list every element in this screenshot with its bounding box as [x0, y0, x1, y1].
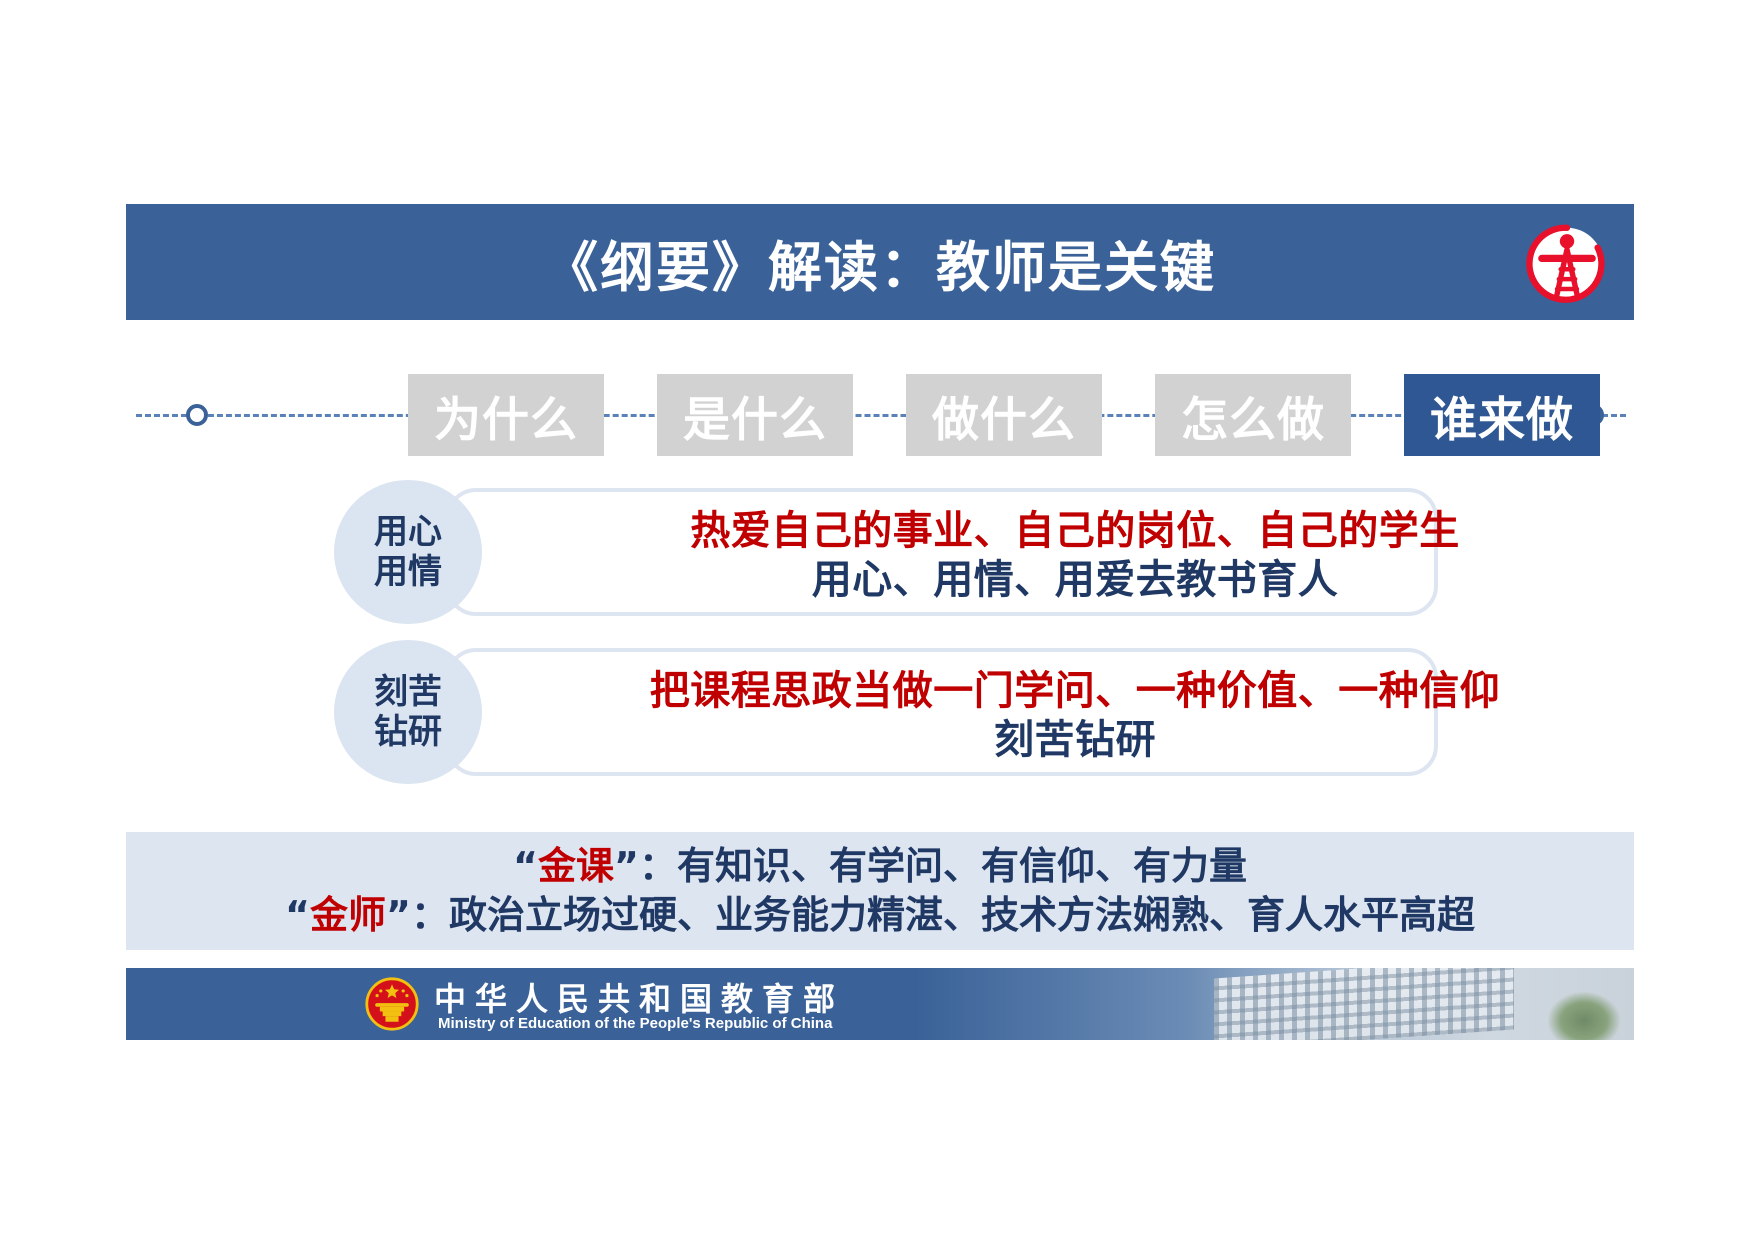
summary-line2-highlight: 金师 — [310, 893, 386, 937]
summary-line1-post: ”：有知识、有学问、有信仰、有力量 — [614, 844, 1247, 888]
summary-band: “金课”：有知识、有学问、有信仰、有力量 “金师”：政治立场过硬、业务能力精湛、… — [126, 832, 1634, 950]
timeline-start-dot-icon — [186, 404, 208, 426]
content-row-kekuzuanyan: 把课程思政当做一门学问、一种价值、一种信仰 刻苦钻研 刻苦 钻研 — [334, 648, 1438, 776]
row-badge-line2: 钻研 — [374, 712, 442, 752]
tab-zuoshenme[interactable]: 做什么 — [906, 374, 1102, 456]
section-timeline-nav: 为什么 是什么 做什么 怎么做 谁来做 — [126, 370, 1634, 460]
ministry-building-photo-icon — [914, 968, 1634, 1040]
slide-canvas: 《纲要》解读：教师是关键 为什么 是什么 做什么 怎么做 谁来做 — [0, 0, 1755, 1241]
content-card: 把课程思政当做一门学问、一种价值、一种信仰 刻苦钻研 — [446, 648, 1438, 776]
content-text-secondary: 刻苦钻研 — [994, 716, 1156, 765]
slide-footer: 中华人民共和国教育部 Ministry of Education of the … — [126, 968, 1634, 1040]
tab-shishenme[interactable]: 是什么 — [657, 374, 853, 456]
tab-weishenme[interactable]: 为什么 — [408, 374, 604, 456]
summary-line-jinshi: “金师”：政治立场过硬、业务能力精湛、技术方法娴熟、育人水平高超 — [285, 891, 1475, 940]
slide-header: 《纲要》解读：教师是关键 — [126, 204, 1634, 320]
content-text-block: 把课程思政当做一门学问、一种价值、一种信仰 刻苦钻研 — [600, 652, 1550, 780]
ministry-name-en: Ministry of Education of the People's Re… — [438, 1015, 832, 1032]
tab-sheilaizuo[interactable]: 谁来做 — [1404, 374, 1600, 456]
content-row-yongxinyongqing: 热爱自己的事业、自己的岗位、自己的学生 用心、用情、用爱去教书育人 用心 用情 — [334, 488, 1438, 616]
tower-circle-logo-icon — [1522, 217, 1612, 307]
row-badge: 用心 用情 — [334, 480, 482, 624]
row-badge: 刻苦 钻研 — [334, 640, 482, 784]
content-card: 热爱自己的事业、自己的岗位、自己的学生 用心、用情、用爱去教书育人 — [446, 488, 1438, 616]
ministry-name-cn: 中华人民共和国教育部 — [434, 974, 844, 1020]
summary-line2-post: ”：政治立场过硬、业务能力精湛、技术方法娴熟、育人水平高超 — [386, 893, 1475, 937]
tab-zenmezuo[interactable]: 怎么做 — [1155, 374, 1351, 456]
summary-line1-highlight: 金课 — [538, 844, 614, 888]
content-text-primary: 把课程思政当做一门学问、一种价值、一种信仰 — [650, 667, 1501, 716]
row-badge-line1: 用心 — [374, 512, 442, 552]
row-badge-line1: 刻苦 — [374, 672, 442, 712]
building-facade-shape — [1214, 968, 1514, 1040]
content-text-secondary: 用心、用情、用爱去教书育人 — [812, 556, 1339, 605]
china-national-emblem-icon — [364, 976, 420, 1032]
summary-line1-pre: “ — [513, 844, 538, 888]
timeline-items: 为什么 是什么 做什么 怎么做 谁来做 — [408, 370, 1600, 460]
tree-shape — [1548, 992, 1620, 1040]
summary-line2-pre: “ — [285, 893, 310, 937]
content-text-primary: 热爱自己的事业、自己的岗位、自己的学生 — [690, 507, 1460, 556]
content-text-block: 热爱自己的事业、自己的岗位、自己的学生 用心、用情、用爱去教书育人 — [600, 492, 1550, 620]
summary-line-jinke: “金课”：有知识、有学问、有信仰、有力量 — [513, 842, 1247, 891]
row-badge-line2: 用情 — [374, 552, 442, 592]
page-title: 《纲要》解读：教师是关键 — [126, 204, 1634, 320]
